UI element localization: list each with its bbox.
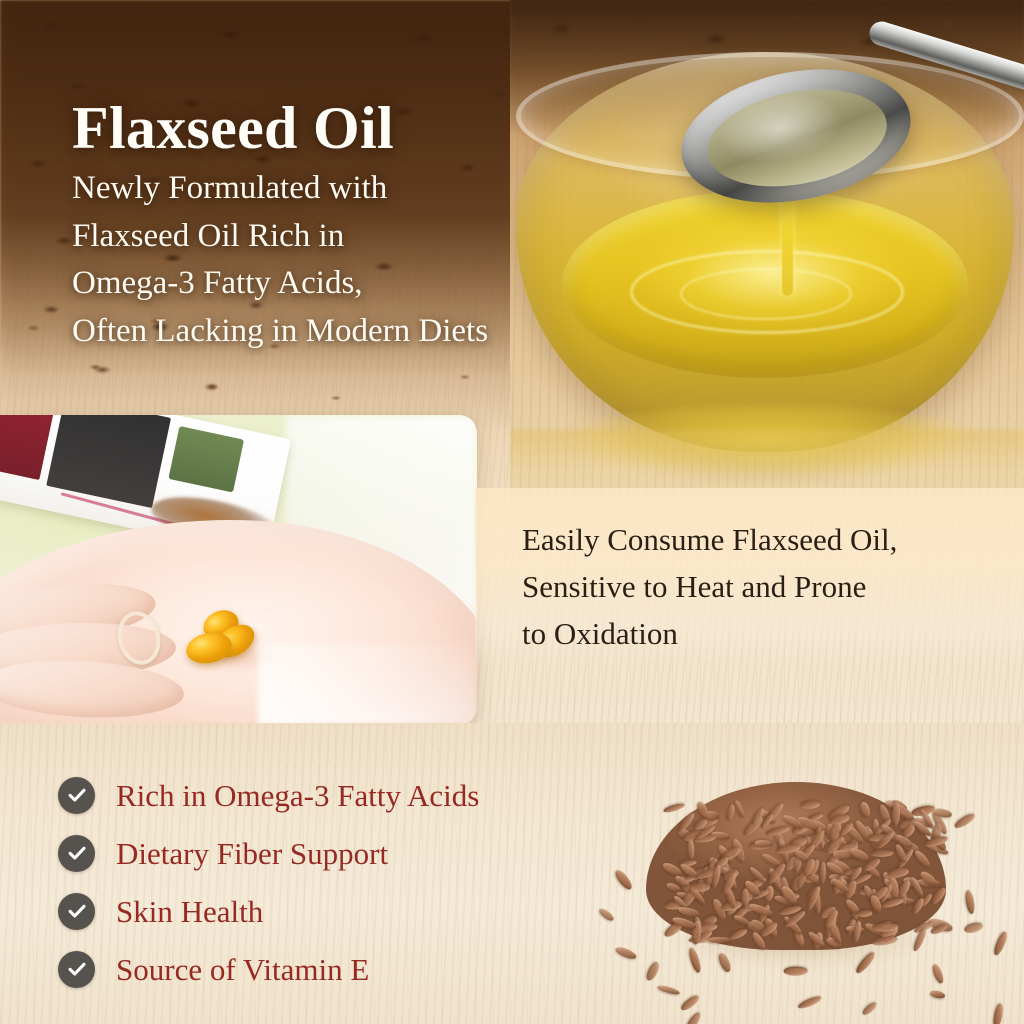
page-title: Flaxseed Oil (72, 97, 394, 160)
hero-subtitle-line: Flaxseed Oil Rich in (72, 213, 632, 261)
flaxseed (657, 983, 681, 995)
check-icon (58, 835, 95, 872)
benefit-label: Skin Health (116, 896, 263, 927)
flaxseed-pile-photo (600, 760, 1000, 1000)
middle-message-line: Easily Consume Flaxseed Oil, (522, 516, 1012, 563)
oil-ripple-inner (680, 268, 852, 320)
hero-subtitle: Newly Formulated with Flaxseed Oil Rich … (72, 165, 632, 355)
flaxseed (755, 839, 773, 847)
benefit-label: Source of Vitamin E (116, 954, 369, 985)
benefit-item-fiber: Dietary Fiber Support (58, 824, 618, 882)
product-infographic: Flaxseed Oil Newly Formulated with Flaxs… (0, 0, 1024, 1024)
flaxseed (930, 989, 946, 999)
benefits-list: Rich in Omega-3 Fatty Acids Dietary Fibe… (58, 766, 618, 998)
flaxseed (662, 802, 685, 814)
flaxseed (644, 960, 661, 982)
hero-subtitle-line: Newly Formulated with (72, 165, 632, 213)
middle-message-line: to Oxidation (522, 610, 1012, 657)
check-icon (58, 777, 95, 814)
middle-message: Easily Consume Flaxseed Oil, Sensitive t… (522, 516, 1012, 657)
package-red-block (0, 415, 57, 480)
check-icon (58, 951, 95, 988)
hero-subtitle-line: Omega-3 Fatty Acids, (72, 260, 632, 308)
check-icon (58, 893, 95, 930)
hero-subtitle-line: Often Lacking in Modern Diets (72, 308, 632, 356)
photo-corner-fade (258, 644, 477, 725)
benefit-item-vitamin-e: Source of Vitamin E (58, 940, 618, 998)
flaxseed (964, 890, 976, 915)
flaxseed (931, 963, 946, 985)
flaxseed (953, 811, 977, 830)
benefit-label: Rich in Omega-3 Fatty Acids (116, 780, 479, 811)
benefit-item-omega3: Rich in Omega-3 Fatty Acids (58, 766, 618, 824)
package-green-block (168, 426, 244, 493)
benefit-label: Dietary Fiber Support (116, 838, 388, 869)
hand-capsules-photo (0, 415, 477, 725)
middle-message-line: Sensitive to Heat and Prone (522, 563, 1012, 610)
benefit-item-skin: Skin Health (58, 882, 618, 940)
